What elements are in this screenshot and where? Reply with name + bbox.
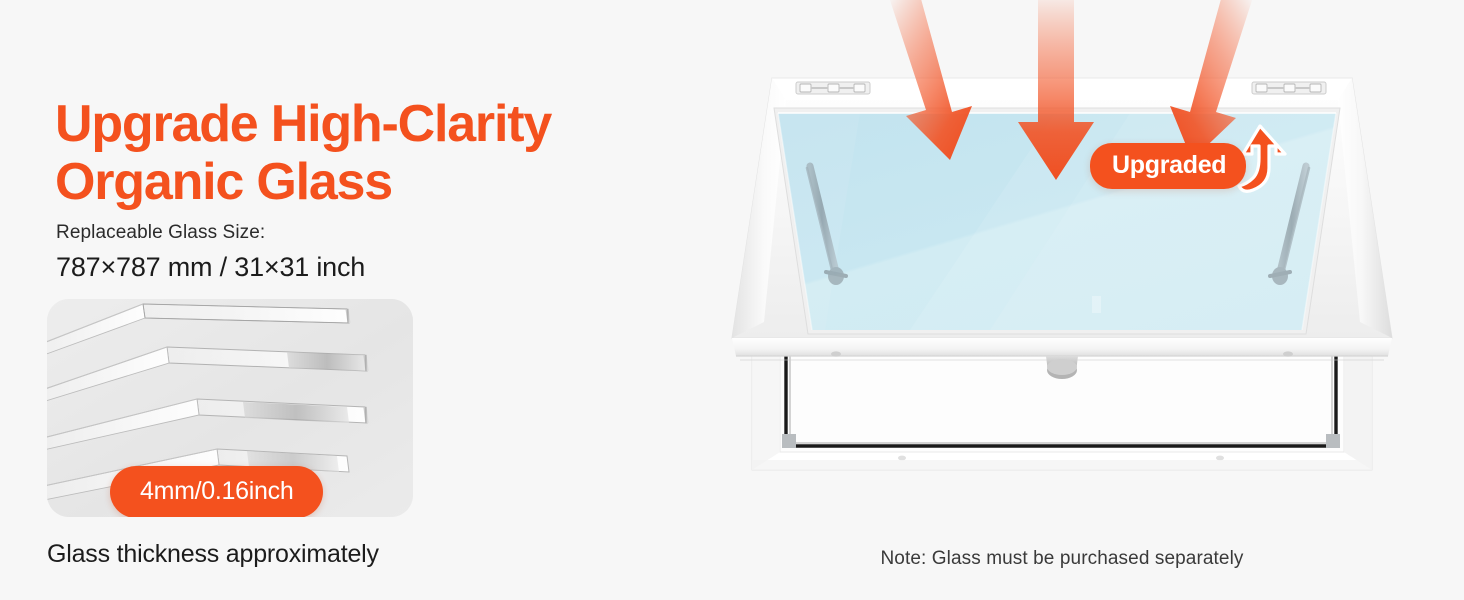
glass-size-value: 787×787 mm / 31×31 inch (56, 252, 365, 283)
upgraded-badge: Upgraded (1090, 124, 1289, 208)
left-content-column: Upgrade High-Clarity Organic Glass Repla… (0, 0, 660, 600)
latch-knob (1046, 356, 1078, 379)
hinge-right (1252, 82, 1326, 94)
glass-size-label: Replaceable Glass Size: (56, 222, 265, 244)
awning-window-illustration (660, 0, 1464, 545)
headline-line-2: Organic Glass (55, 153, 635, 211)
thickness-caption: Glass thickness approximately (47, 540, 379, 569)
hinge-left (796, 82, 870, 94)
right-product-column: Upgraded Note: Glass must be purchased s… (660, 0, 1464, 600)
glass-thickness-panel: 4mm/0.16inch (47, 299, 413, 517)
note-text: Note: Glass must be purchased separately (660, 548, 1464, 570)
headline-line-1: Upgrade High-Clarity (55, 95, 635, 153)
page-title: Upgrade High-Clarity Organic Glass (55, 95, 635, 211)
thickness-badge: 4mm/0.16inch (110, 466, 323, 517)
upgraded-badge-label: Upgraded (1090, 143, 1246, 189)
